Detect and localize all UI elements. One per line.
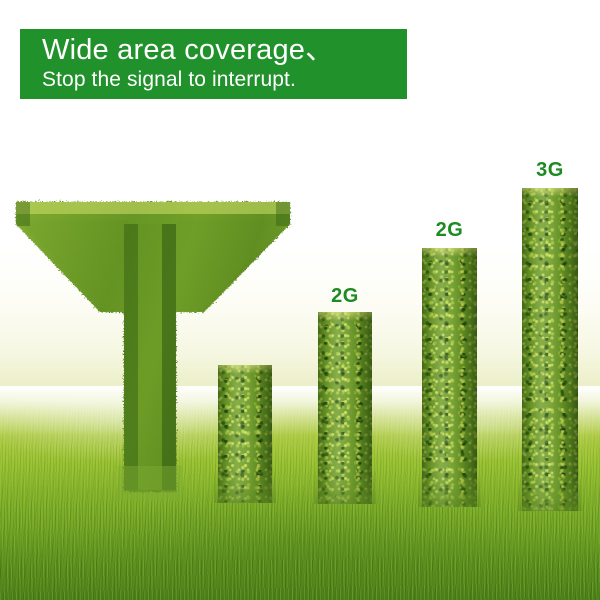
signal-bar-2 [318,312,372,504]
signal-bar-4-base-fade [518,477,582,511]
signal-bar-1-base-fade [214,469,276,503]
signal-bar-1-cap [218,365,272,374]
signal-bar-1 [218,365,272,503]
headline-banner: Wide area coverage、 Stop the signal to i… [20,29,407,99]
signal-bar-4-cap [522,188,578,197]
signal-bar-4-label: 3G [522,160,578,180]
signal-bar-2-base-fade [314,470,376,504]
poster-canvas: 2G 2G 3G Wide area coverage、 Stop the si… [0,0,600,600]
signal-bar-3-base-fade [418,473,481,507]
signal-bar-1-shading [218,365,272,503]
headline-subtitle: Stop the signal to interrupt. [42,67,399,93]
headline-title: Wide area coverage、 [42,33,399,67]
signal-bar-2-label: 2G [318,286,372,306]
signal-bar-4 [522,188,578,511]
signal-bar-4-shading [522,188,578,511]
signal-bar-2-cap [318,312,372,321]
signal-bar-3-shading [422,248,477,507]
signal-bar-3 [422,248,477,507]
signal-bar-3-label: 2G [422,220,477,240]
signal-bar-3-cap [422,248,477,257]
headline-banner-text-group: Wide area coverage、 Stop the signal to i… [42,33,399,93]
signal-bar-2-shading [318,312,372,504]
